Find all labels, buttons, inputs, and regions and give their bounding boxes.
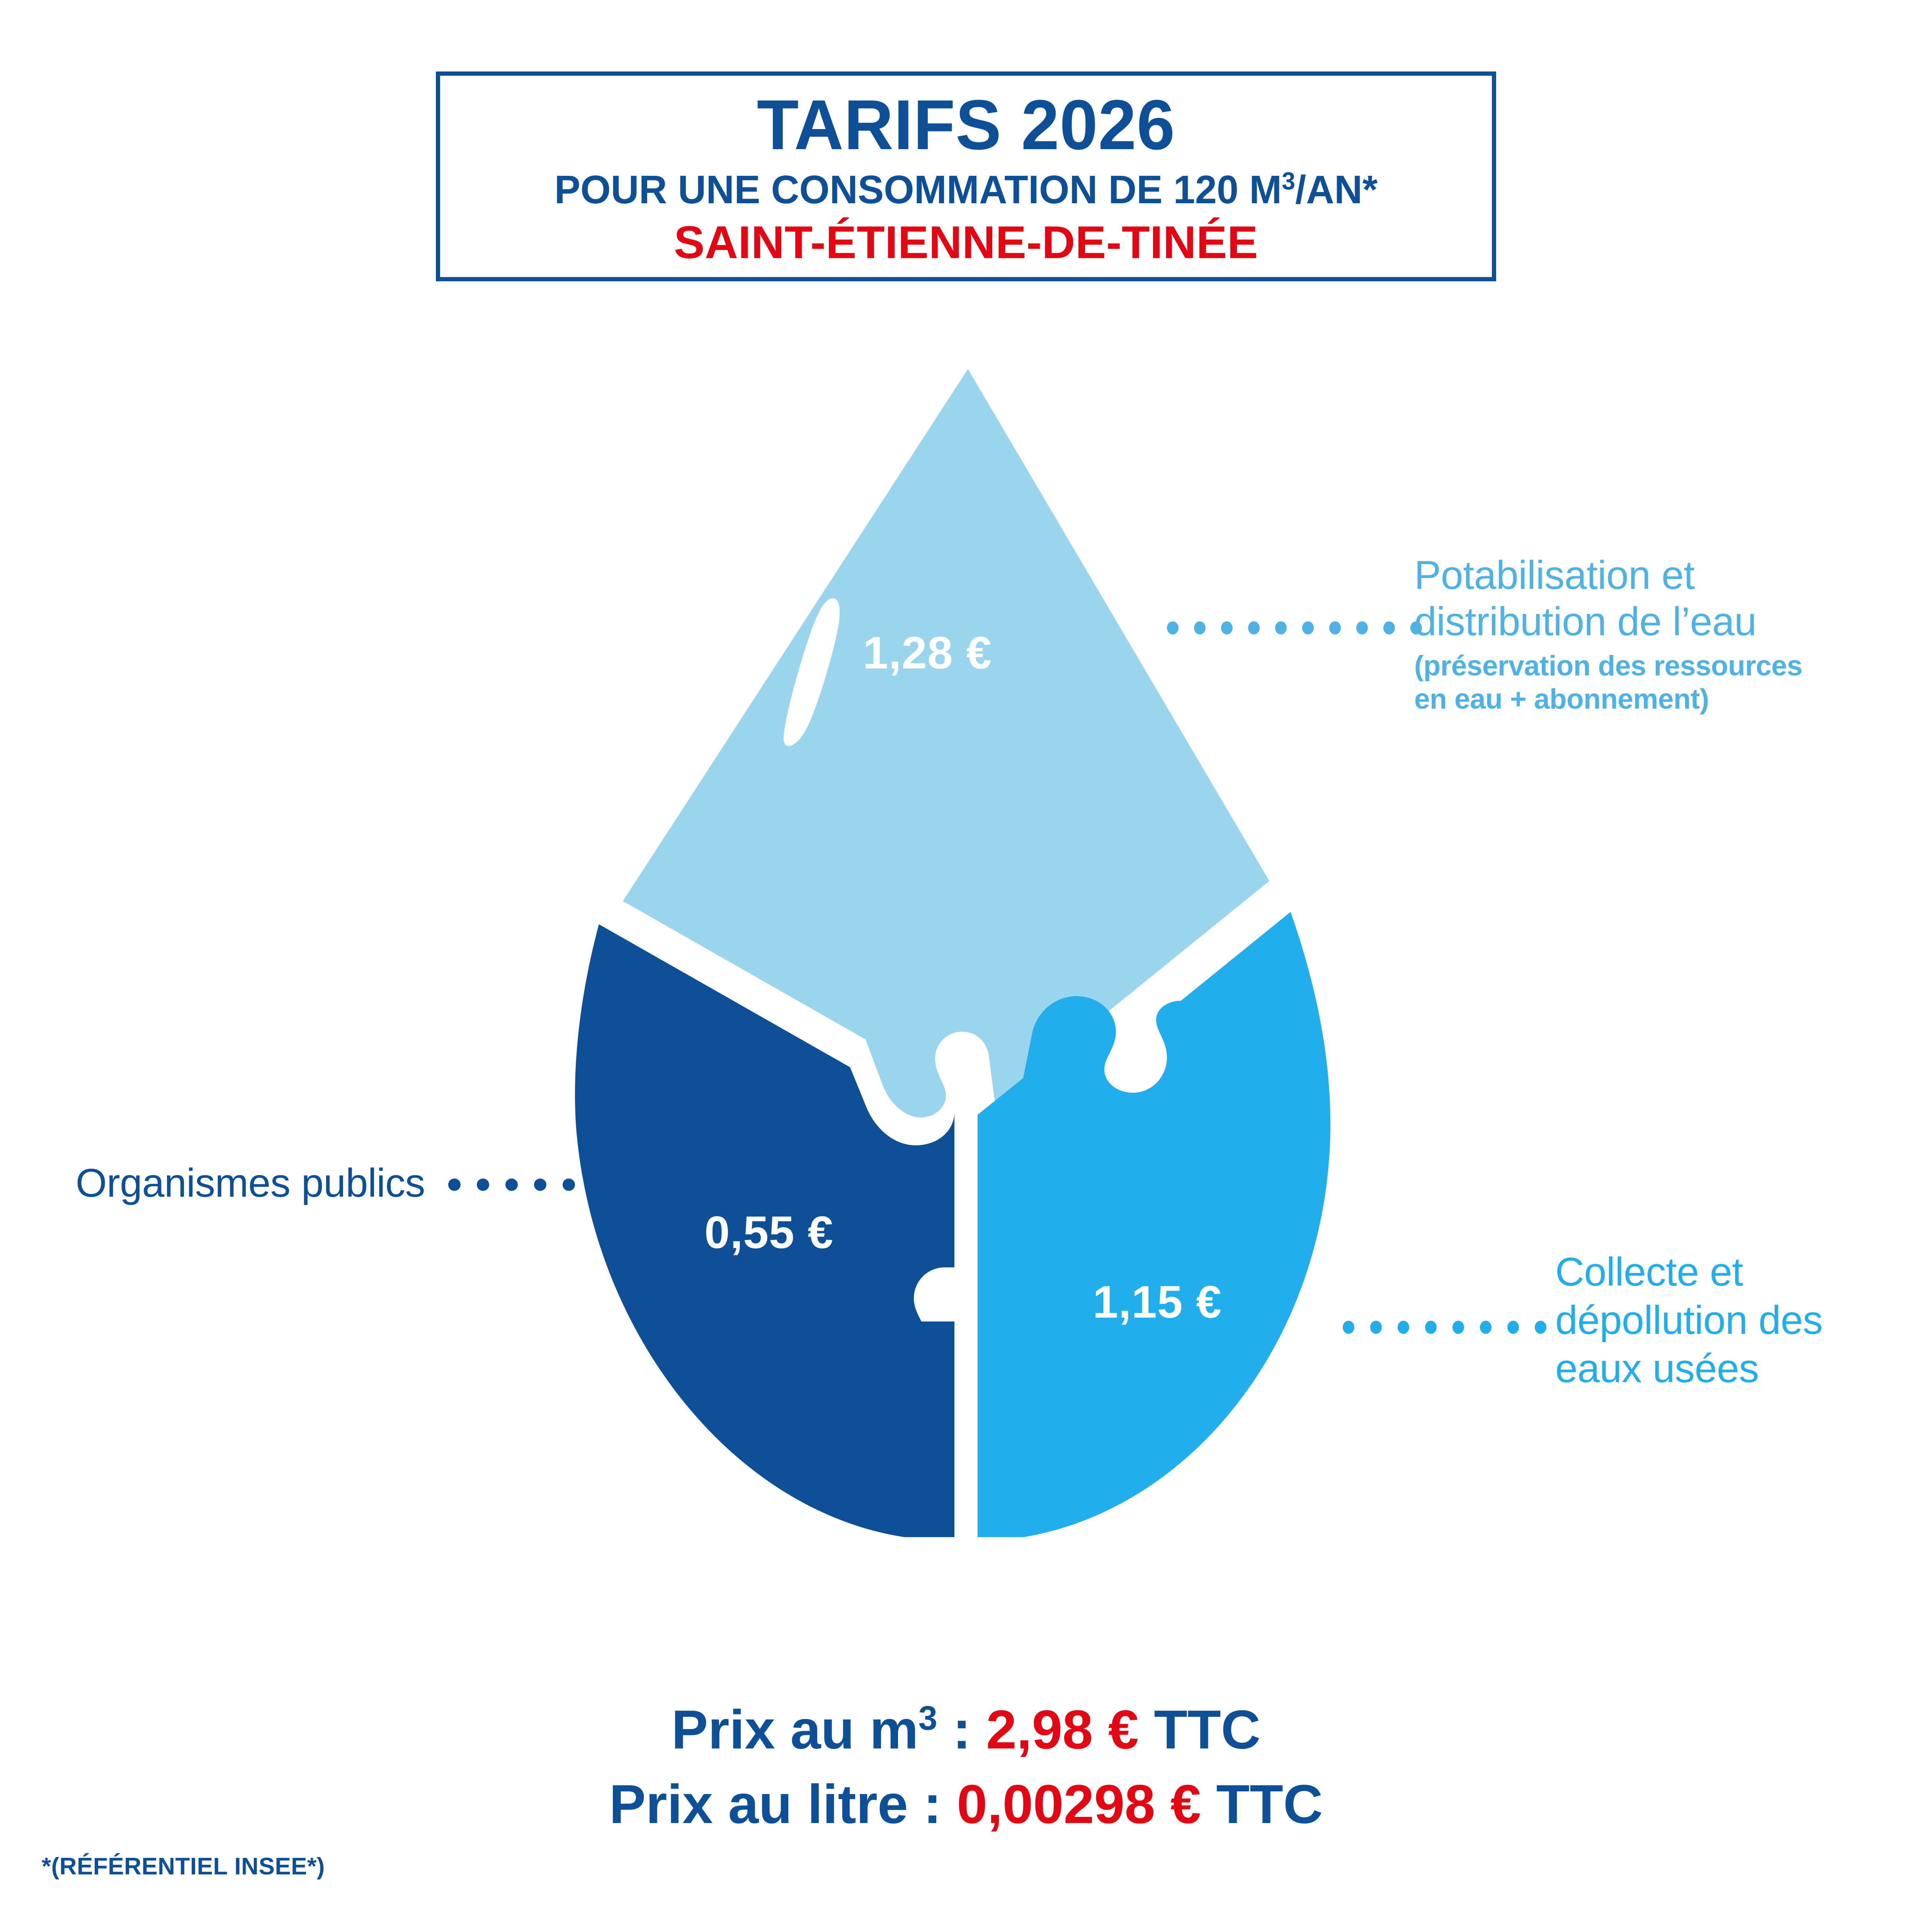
legend-label-line2: distribution de l’eau — [1414, 599, 1889, 645]
legend-label-line1: Potabilisation et — [1414, 553, 1889, 599]
price-per-cubic-meter: Prix au m3 : 2,98 € TTC — [0, 1692, 1932, 1767]
legend-item-collecte: Collecte et dépollution des eaux usées — [1555, 1248, 1926, 1393]
city-name: SAINT-ÉTIENNE-DE-TINÉE — [674, 218, 1258, 268]
page-title: TARIFS 2026 — [757, 89, 1175, 160]
price-m3-suffix: TTC — [1139, 1699, 1260, 1760]
legend-label: Organismes publics — [15, 1159, 425, 1207]
dot — [1370, 1321, 1382, 1334]
dot — [1275, 621, 1287, 634]
page-subtitle-text: POUR UNE CONSOMMATION DE 120 M — [554, 167, 1282, 212]
price-m3-exponent: 3 — [918, 1699, 937, 1737]
legend-label-line2: dépollution des — [1555, 1296, 1926, 1345]
value-label-potabilisation: 1,28 € — [863, 628, 992, 679]
legend-sublabel-line2: en eau + abonnement) — [1414, 683, 1889, 716]
price-per-litre: Prix au litre : 0,00298 € TTC — [0, 1767, 1932, 1842]
page-subtitle: POUR UNE CONSOMMATION DE 120 M3/AN* — [546, 160, 1386, 213]
dot — [1480, 1321, 1492, 1334]
dot — [1398, 1321, 1409, 1334]
page-subtitle-exponent: 3 — [1282, 167, 1295, 195]
footnote: *(RÉFÉRENTIEL INSEE*) — [42, 1853, 325, 1880]
legend-sublabel-line1: (préservation des ressources — [1414, 650, 1889, 683]
dot — [1221, 621, 1233, 634]
dot — [1343, 1321, 1354, 1334]
title-box: TARIFS 2026 POUR UNE CONSOMMATION DE 120… — [436, 71, 1496, 281]
value-label-organismes: 0,55 € — [704, 1207, 833, 1258]
legend-item-potabilisation: Potabilisation et distribution de l’eau … — [1414, 553, 1889, 716]
dot — [505, 1179, 518, 1191]
price-litre-amount: 0,00298 € — [957, 1774, 1201, 1835]
dot — [1383, 621, 1395, 634]
water-drop-puzzle-chart: 1,28 € 0,55 € 1,15 € — [533, 359, 1414, 1561]
dot — [1194, 621, 1206, 634]
dot — [1356, 621, 1368, 634]
page-subtitle-tail: /AN* — [1295, 167, 1378, 212]
connector-dots-potabilisation — [1167, 621, 1422, 634]
dot — [534, 1179, 546, 1191]
legend-label-line3: eaux usées — [1555, 1345, 1926, 1393]
value-label-collecte: 1,15 € — [1093, 1277, 1222, 1328]
dot — [1329, 621, 1341, 634]
legend-item-organismes: Organismes publics — [15, 1159, 425, 1207]
legend-label-line1: Collecte et — [1555, 1248, 1926, 1296]
dot — [1507, 1321, 1519, 1334]
price-litre-suffix: TTC — [1201, 1774, 1323, 1835]
dot — [591, 1179, 604, 1191]
price-litre-label: Prix au litre : — [609, 1774, 957, 1835]
connector-dots-collecte — [1343, 1321, 1546, 1334]
dot — [1167, 621, 1179, 634]
price-summary: Prix au m3 : 2,98 € TTC Prix au litre : … — [0, 1692, 1932, 1842]
price-m3-label: Prix au m — [672, 1699, 918, 1760]
price-m3-amount: 2,98 € — [986, 1699, 1139, 1760]
dot — [1425, 1321, 1437, 1334]
dot — [1302, 621, 1314, 634]
dot — [1535, 1321, 1546, 1334]
dot — [563, 1179, 575, 1191]
dot — [477, 1179, 489, 1191]
dot — [448, 1179, 461, 1191]
connector-dots-organismes — [448, 1179, 604, 1191]
price-m3-separator: : — [937, 1699, 986, 1760]
dot — [1248, 621, 1260, 634]
dot — [1452, 1321, 1464, 1334]
